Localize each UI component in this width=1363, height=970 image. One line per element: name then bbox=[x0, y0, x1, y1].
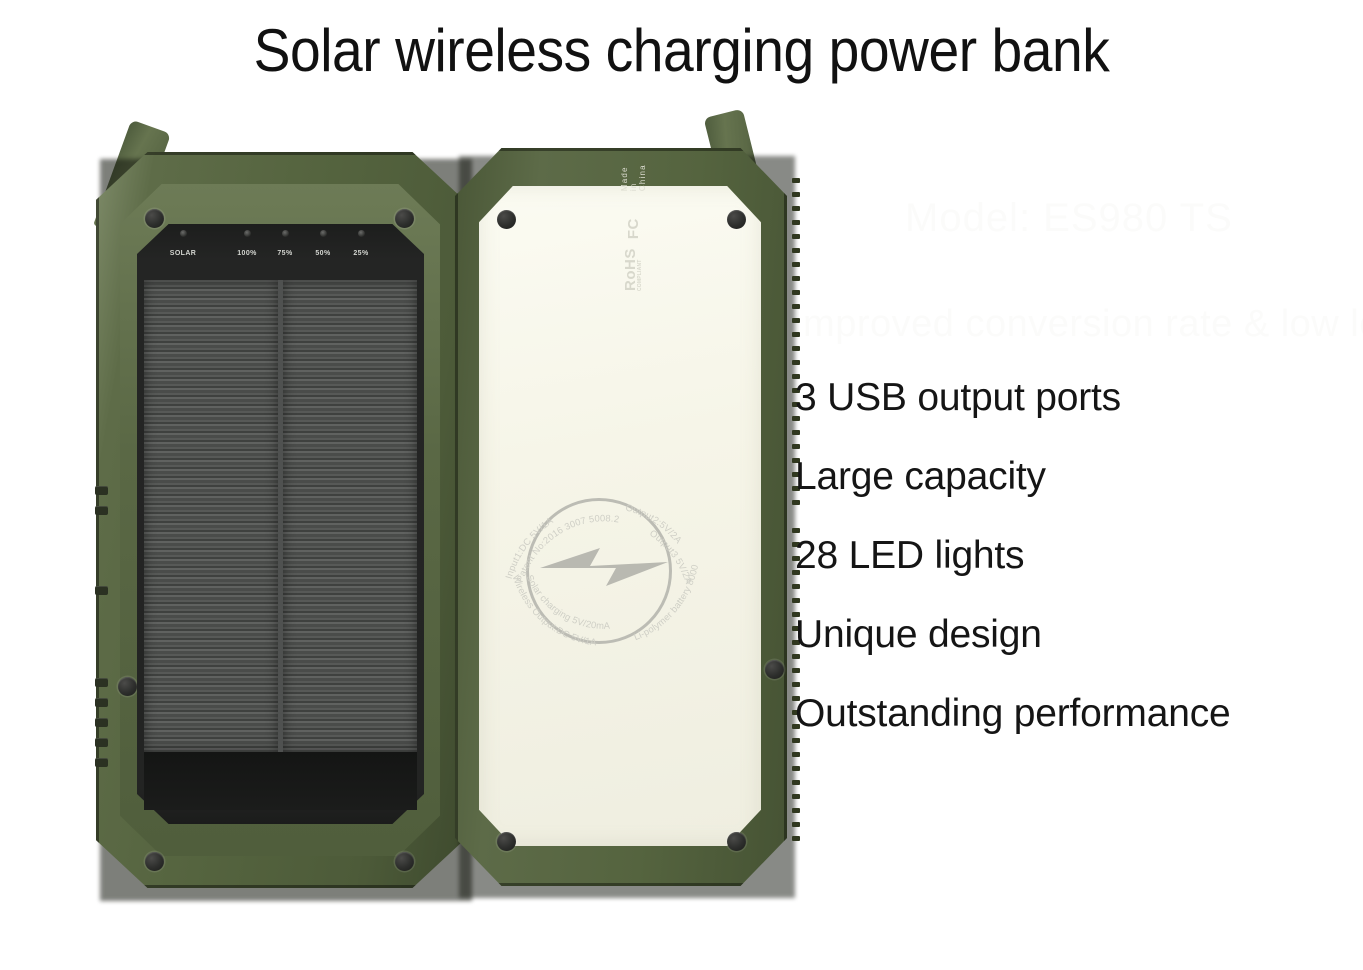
solar-cell-column bbox=[283, 280, 417, 752]
feature-item-capacity: Large capacity bbox=[795, 457, 1315, 496]
solar-panel-lower-blank bbox=[144, 752, 417, 810]
corner-screw-bottom-right bbox=[395, 852, 414, 871]
solar-cell-column bbox=[144, 280, 278, 752]
corner-screw-bottom-right bbox=[727, 832, 746, 851]
watermark-tagline-text: Improved conversion rate & low loss bbox=[792, 303, 1363, 346]
battery-indicator-strip: SOLAR 100% 75% 50% 25% bbox=[151, 230, 411, 278]
power-bank-front-device: SOLAR 100% 75% 50% 25% bbox=[96, 152, 468, 894]
led-label-50: 50% bbox=[315, 250, 330, 257]
rohs-mark-sub: COMPLIANT bbox=[638, 248, 643, 291]
watermark-model-text: Model: ES980 TS bbox=[905, 196, 1233, 241]
corner-screw-top-right bbox=[727, 210, 746, 229]
certification-marks-group: RoHS COMPLIANT FC Made in China bbox=[548, 180, 718, 300]
spec-text-ring: Input1:DC 5V/1A Output2:5V/2A Patent No:… bbox=[496, 440, 711, 690]
feature-item-performance: Outstanding performance bbox=[795, 694, 1315, 733]
spec-patent: Patent No:2016 3007 5008.2 bbox=[514, 512, 620, 583]
led-indicator-dot bbox=[180, 230, 187, 237]
product-promo-image: Solar wireless charging power bank Model… bbox=[0, 0, 1363, 970]
wireless-charging-graphic: Input1:DC 5V/1A Output2:5V/2A Patent No:… bbox=[496, 440, 711, 690]
fcc-mark-label: FC bbox=[626, 218, 641, 239]
origin-label: Made in China bbox=[620, 164, 647, 191]
side-screw-left bbox=[118, 677, 137, 696]
page-title: Solar wireless charging power bank bbox=[55, 16, 1309, 85]
led-label-100: 100% bbox=[237, 250, 257, 257]
led-label-25: 25% bbox=[353, 250, 368, 257]
feature-item-led-lights: 28 LED lights bbox=[795, 536, 1315, 575]
side-grip-notches bbox=[95, 482, 108, 782]
spec-solar-charging: Solar charging 5V/20mA bbox=[525, 573, 611, 631]
led-indicator-dot bbox=[282, 230, 289, 237]
corner-screw-top-left bbox=[497, 210, 516, 229]
feature-item-design: Unique design bbox=[795, 615, 1315, 654]
led-label-solar: SOLAR bbox=[170, 250, 197, 257]
feature-item-usb-ports: 3 USB output ports bbox=[795, 378, 1315, 417]
corner-screw-bottom-left bbox=[145, 852, 164, 871]
led-indicator-dot bbox=[320, 230, 327, 237]
feature-list: 3 USB output ports Large capacity 28 LED… bbox=[795, 378, 1315, 773]
corner-screw-bottom-left bbox=[497, 832, 516, 851]
corner-screw-top-right bbox=[395, 209, 414, 228]
led-label-75: 75% bbox=[277, 250, 292, 257]
led-indicator-dot bbox=[244, 230, 251, 237]
side-screw-right bbox=[765, 660, 784, 679]
solar-cell-array bbox=[144, 280, 417, 752]
rohs-mark-label: RoHS COMPLIANT bbox=[623, 248, 643, 291]
corner-screw-top-left bbox=[145, 209, 164, 228]
led-indicator-dot bbox=[358, 230, 365, 237]
